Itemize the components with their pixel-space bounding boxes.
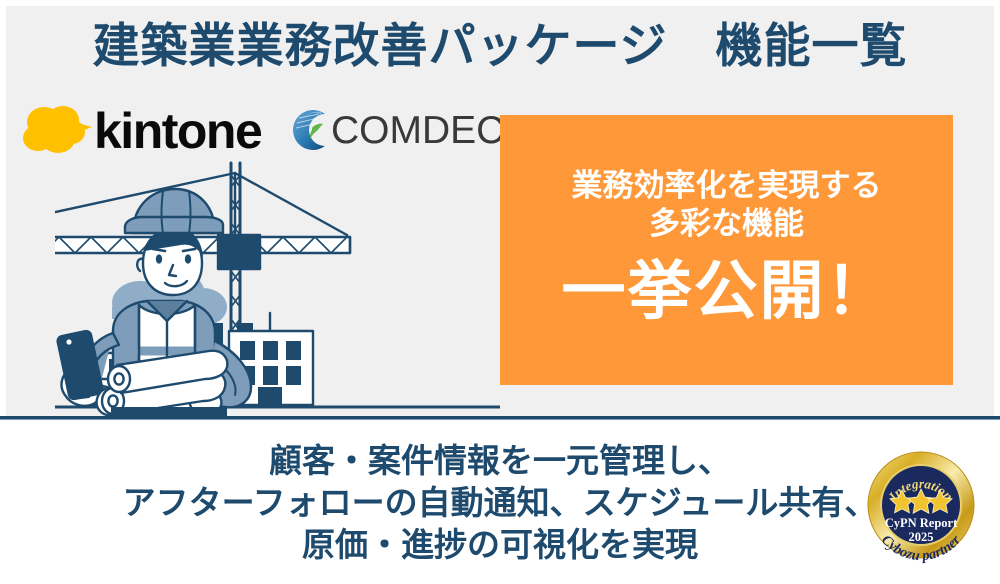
construction-scene-svg (55, 155, 500, 417)
orange-callout: 業務効率化を実現する 多彩な機能 一挙公開！ (500, 115, 953, 385)
slide-canvas: 建築業業務改善パッケージ 機能一覧 kintone (0, 0, 1000, 584)
cybozu-partner-badge: Integration CyPN Report 2025 Cybozu part… (862, 446, 980, 564)
caption-line-3: 原価・進捗の可視化を実現 (0, 524, 1000, 566)
comdec-logo: COMDEC (285, 106, 485, 156)
callout-line-2: 多彩な機能 (500, 205, 953, 243)
kintone-wordmark: kintone (94, 102, 261, 160)
page-title: 建築業業務改善パッケージ 機能一覧 (0, 20, 1000, 72)
comdec-wordmark: COMDEC (331, 108, 504, 154)
badge-year-label: 2025 (909, 530, 934, 544)
kintone-logo: kintone (22, 100, 277, 162)
cypn-report-badge-icon: Integration CyPN Report 2025 Cybozu part… (862, 446, 980, 564)
callout-headline: 一挙公開！ (500, 251, 953, 331)
construction-illustration (55, 155, 500, 417)
callout-line-1: 業務効率化を実現する (500, 167, 953, 205)
badge-report-label: CyPN Report (885, 516, 958, 530)
caption-line-1: 顧客・案件情報を一元管理し、 (0, 440, 1000, 482)
cloud-icon (22, 100, 92, 162)
section-divider-accent (0, 419, 1000, 420)
summary-caption: 顧客・案件情報を一元管理し、 アフターフォローの自動通知、スケジュール共有、 原… (0, 440, 1000, 566)
globe-leaf-icon (285, 106, 331, 154)
caption-line-2: アフターフォローの自動通知、スケジュール共有、 (0, 482, 1000, 524)
